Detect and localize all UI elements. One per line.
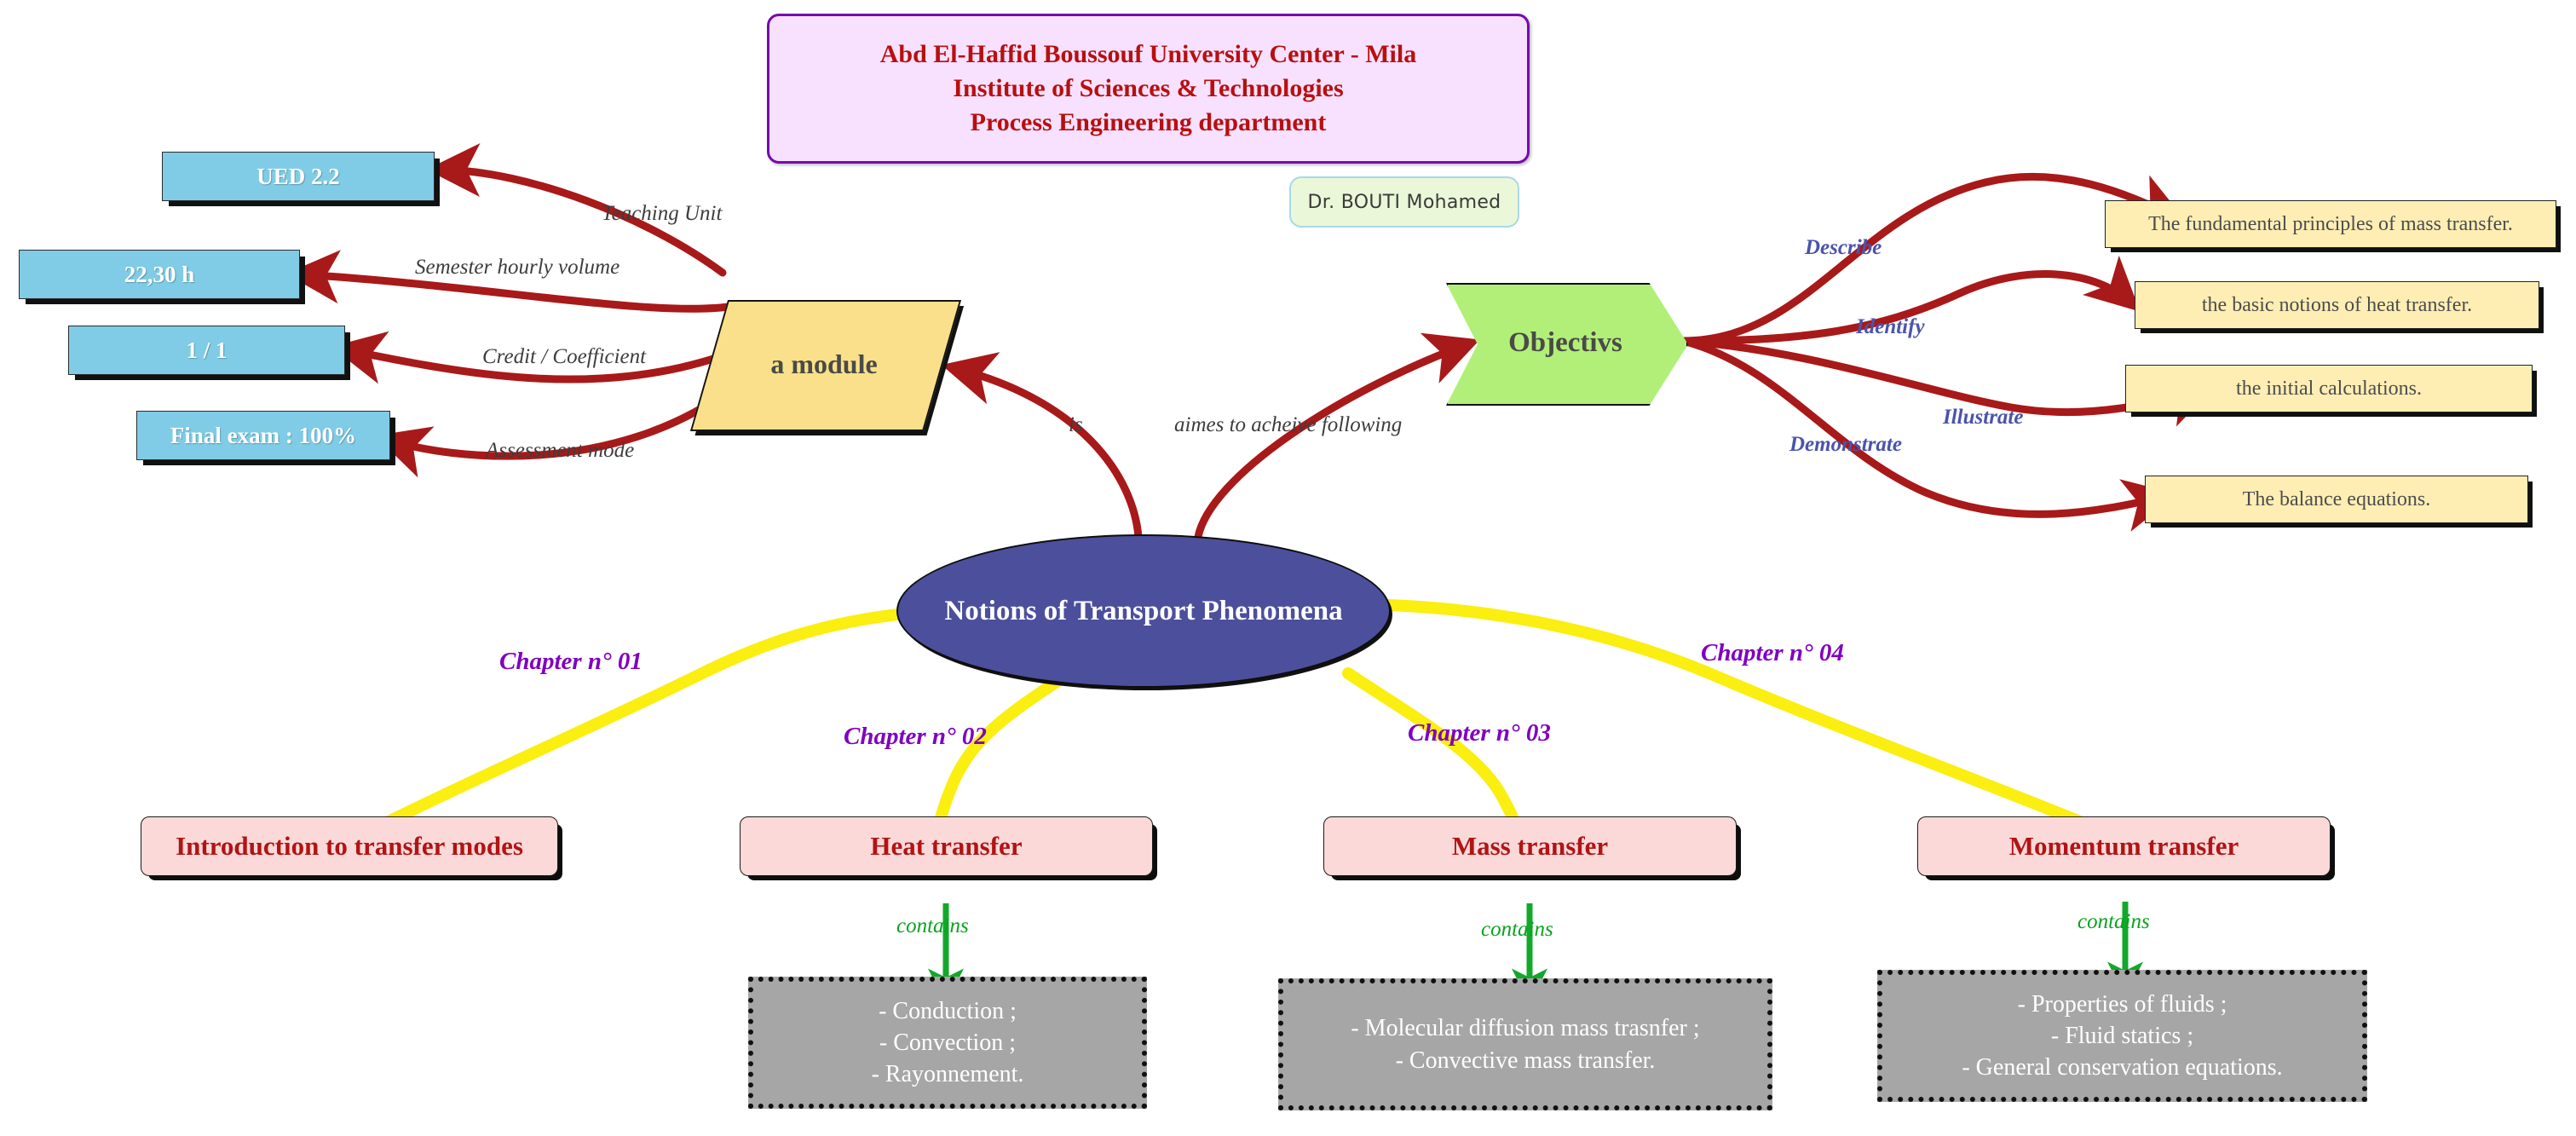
module-attribute-value-credit-coefficient: 1 / 1 xyxy=(68,326,345,375)
chapter-contents-2: - Conduction ; - Convection ; - Rayonnem… xyxy=(748,977,1147,1109)
objectives-node: Objectivs xyxy=(1446,283,1685,402)
edge-label-aimes-to-acheive-following: aimes to acheive following xyxy=(1174,413,1402,437)
chapter-box-1: Introduction to transfer modes xyxy=(141,816,558,876)
contains-label-3: contains xyxy=(1481,918,1553,942)
edge-label-credit-coefficient: Credit / Coefficient xyxy=(482,345,646,369)
module-node: a module xyxy=(709,300,939,428)
teacher-badge: Dr. BOUTI Mohamed xyxy=(1289,176,1519,228)
mind-map-canvas: Abd El-Haffid Boussouf University Center… xyxy=(0,0,2576,1136)
content-line: - Convection ; xyxy=(879,1027,1016,1058)
center-to-module-edge xyxy=(954,368,1138,537)
chapter-contents-4: - Properties of fluids ; - Fluid statics… xyxy=(1877,970,2367,1102)
content-line: - Rayonnement. xyxy=(872,1058,1024,1090)
objective-verb-demonstrate: Demonstrate xyxy=(1789,433,1902,457)
chapter-box-4: Momentum transfer xyxy=(1917,816,2331,876)
chapter-edge-label-03: Chapter n° 03 xyxy=(1408,719,1551,747)
module-attribute-value-teaching-unit: UED 2.2 xyxy=(162,152,435,201)
chapter-edge-label-02: Chapter n° 02 xyxy=(844,723,987,751)
chapter-contents-3: - Molecular diffusion mass trasnfer ; - … xyxy=(1278,978,1772,1110)
page-title: Abd El-Haffid Boussouf University Center… xyxy=(767,14,1530,164)
contains-label-2: contains xyxy=(896,914,969,938)
objective-text-1: The fundamental principles of mass trans… xyxy=(2105,200,2556,248)
chapter-edge-label-01: Chapter n° 01 xyxy=(499,648,643,676)
chapter-edge-label-04: Chapter n° 04 xyxy=(1701,639,1844,667)
objective-text-4: The balance equations. xyxy=(2145,476,2528,523)
module-attribute-value-assessment-mode: Final exam : 100% xyxy=(136,411,390,460)
objective-text-3: the initial calculations. xyxy=(2125,365,2533,412)
objective-verb-illustrate: Illustrate xyxy=(1943,406,2023,430)
center-to-objectives-edge xyxy=(1198,344,1467,537)
edge-label-teaching-unit: Teaching Unit xyxy=(602,202,722,226)
edge-label-is: is xyxy=(1069,413,1083,437)
content-line: - Conduction ; xyxy=(879,995,1017,1027)
objective-verb-identify: Identify xyxy=(1856,315,1925,339)
header-line-2: Institute of Sciences & Technologies xyxy=(953,72,1343,106)
module-attribute-value-hourly-volume: 22,30 h xyxy=(19,250,300,299)
chapter-box-3: Mass transfer xyxy=(1323,816,1737,876)
contains-label-4: contains xyxy=(2078,910,2150,934)
content-line: - Convective mass transfer. xyxy=(1396,1045,1656,1076)
central-topic: Notions of Transport Phenomena xyxy=(896,534,1391,688)
header-line-1: Abd El-Haffid Boussouf University Center… xyxy=(880,37,1416,72)
edge-label-hourly-volume: Semester hourly volume xyxy=(415,256,620,280)
objective-text-2: the basic notions of heat transfer. xyxy=(2135,281,2539,329)
chapter-box-2: Heat transfer xyxy=(740,816,1153,876)
content-line: - Molecular diffusion mass trasnfer ; xyxy=(1351,1012,1699,1044)
header-line-3: Process Engineering department xyxy=(971,106,1327,140)
objectives-label: Objectivs xyxy=(1446,283,1685,402)
module-label: a module xyxy=(709,300,939,428)
content-line: - Properties of fluids ; xyxy=(2018,989,2227,1020)
content-line: - Fluid statics ; xyxy=(2051,1020,2193,1052)
content-line: - General conservation equations. xyxy=(1962,1052,2282,1083)
edge-label-assessment-mode: Assessment mode xyxy=(486,439,634,463)
objective-verb-describe: Describe xyxy=(1805,236,1882,260)
